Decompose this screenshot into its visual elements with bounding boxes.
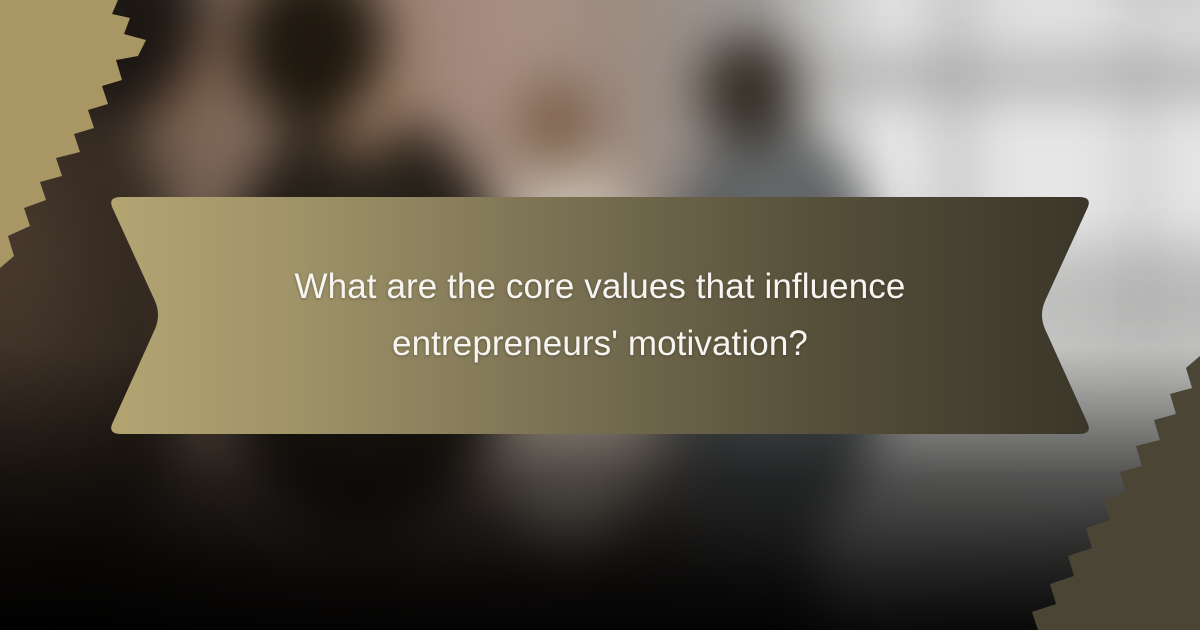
headline-text: What are the core values that influence …	[186, 197, 1014, 434]
share-card: What are the core values that influence …	[0, 0, 1200, 630]
